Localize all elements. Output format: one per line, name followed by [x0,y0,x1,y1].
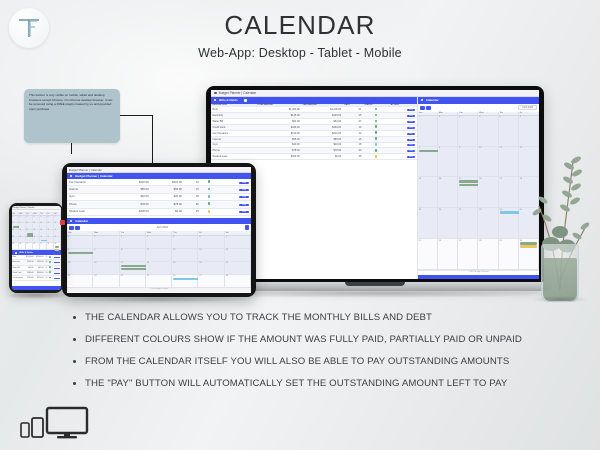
pay-button[interactable]: Pay [407,133,416,135]
table-cell: 25 [184,208,201,215]
calendar-day-cell[interactable]: 28 [54,237,61,244]
calendar-day-number: 5 [41,217,42,218]
calendar-day-cell[interactable]: 4 [146,236,172,249]
calendar-day-cell[interactable]: 4 [478,116,498,147]
phone-mockup: Budget Planner | Calendar SunMonTueWedTh… [9,203,63,293]
calendar-day-number: 12 [173,249,175,251]
table-row[interactable]: Student Loan$320.00$0.0025Pay [67,208,251,215]
bullet-item: THE "PAY" BUTTON WILL AUTOMATICALLY SET … [72,378,552,391]
calendar-day-number: 30 [20,244,22,245]
table-cell: $210.00 [151,179,184,186]
pay-button[interactable]: Pay [239,204,249,206]
calendar-day-cell[interactable]: 29 [12,243,19,250]
table-row[interactable]: Car Insurance$210.00$210.0012Pay [12,275,61,280]
table-cell: Phone [67,201,118,208]
calendar-day-cell[interactable]: 16 [19,230,26,237]
status-dot [49,261,51,263]
calendar-day-cell[interactable]: 9 [93,249,119,262]
list-icon [214,99,216,101]
calendar-day-cell[interactable]: 25 [146,275,172,288]
tablet-mockup: Budget Planner | Calendar Budget Planner… [62,163,256,297]
calendar-day-cell[interactable]: 19 [418,208,438,239]
pay-button[interactable]: Pay [407,115,416,117]
calendar-day-number: 15 [13,230,15,231]
calendar-day-cell[interactable]: 25 [33,237,40,244]
calendar-day-cell[interactable]: 35Internet - $55.00Student Loan - $0.00 [54,243,61,250]
pay-button[interactable]: Pay [239,189,249,191]
calendar-day-number: 21 [226,262,228,264]
table-row[interactable]: Internet$55.00$55.0015Pay [67,186,251,193]
phone-screen: Budget Planner | Calendar SunMonTueWedTh… [12,206,61,290]
calendar-day-cell[interactable]: 3 [120,236,146,249]
calendar-day-number: 20 [199,262,201,264]
status-dot [375,149,377,151]
calendar-day-number: 29 [13,244,15,245]
pay-button[interactable]: Pay [54,257,60,258]
calendar-day-cell[interactable]: 11 [33,223,40,230]
calendar-day-cell[interactable]: 5 [499,116,519,147]
calendar-day-cell[interactable]: 13 [47,223,54,230]
calendar-day-cell[interactable]: 16 [93,262,119,275]
calendar-day-cell[interactable]: 22 [67,275,93,288]
calendar-day-number: 4 [34,217,35,218]
calendar-day-number: 21 [55,230,57,231]
table-cell: $320.00 [255,154,301,160]
calendar-day-number: 17 [27,230,29,231]
table-cell: $78.00 [151,201,184,208]
status-dot [49,266,51,268]
pay-button[interactable]: Pay [239,196,249,198]
calendar-day-cell[interactable]: 29 [499,239,519,270]
status-badge [363,154,389,160]
calendar-day-cell[interactable]: 33 [40,243,47,250]
calendar-day-cell[interactable]: 2 [93,236,119,249]
action-cell: Pay [217,208,251,215]
tablet-app-window-title: Budget Planner | Calendar [69,168,102,172]
calendar-day-number: 4 [147,236,148,238]
calendar-day-number: 10 [27,223,29,224]
pay-button[interactable]: Pay [407,109,416,111]
status-dot [375,155,377,157]
status-badge [201,186,217,193]
action-cell: Pay [217,179,251,186]
calendar-day-cell[interactable]: 1 [12,216,19,223]
banner-callout-text: This banner is only visible on mobile, t… [29,93,115,112]
calendar-day-number: 2 [94,236,95,238]
calendar-day-cell[interactable]: 2 [438,116,458,147]
calendar-day-cell[interactable]: 11 [146,249,172,262]
calendar-day-number: 19 [419,209,421,211]
calendar-day-number: 16 [94,262,96,264]
calendar-day-number: 21 [459,209,461,211]
calendar-day-number: 11 [34,223,35,224]
pay-button[interactable]: Pay [239,182,249,184]
calendar-day-number: 25 [419,240,421,242]
table-cell: $55.00 [118,186,151,193]
calendar-day-cell[interactable]: 6 [198,236,224,249]
phone-bills-panel-title: Bills & Debts [20,252,34,254]
action-cell: Pay [52,275,60,280]
status-dot [208,188,211,191]
calendar-day-number: 26 [173,275,175,277]
calendar-day-cell[interactable]: 8 [438,147,458,178]
calendar-day-cell[interactable]: 21 [54,230,61,237]
calendar-day-cell[interactable]: 27 [47,237,54,244]
table-cell: Car Insurance [12,275,25,280]
page-title: CALENDAR [0,10,600,41]
calendar-day-number: 1 [68,236,69,238]
calendar-day-cell[interactable]: 10 [120,249,146,262]
status-dot [375,143,377,145]
calendar-day-number: 6 [199,236,200,238]
calendar-day-cell[interactable]: 22 [478,208,498,239]
calendar-day-number: 19 [173,262,175,264]
calendar-day-number: 11 [500,147,502,149]
calendar-day-number: 26 [439,240,441,242]
table-cell: $20.00 [151,193,184,200]
calendar-day-cell[interactable]: 28 [225,275,251,288]
calendar-day-number: 3 [121,236,122,238]
table-cell: 18 [184,193,201,200]
status-dot [49,277,51,279]
table-cell: Student Loan [211,154,255,160]
laptop-screen: Budget Planner | Calendar Bills & Debts … [211,90,539,279]
phone-bottom-accent-bar [12,286,61,290]
calendar-day-cell[interactable]: 13 [198,249,224,262]
table-row[interactable]: Gym$40.00$20.0018Pay [67,193,251,200]
calendar-day-cell[interactable]: 15Electricity - $145.00Credit Card - $43… [458,177,478,208]
calendar-day-number: 15 [68,262,70,264]
table-cell: $0.00 [301,154,342,160]
table-row[interactable]: Phone$78.00$78.0020Pay [67,201,251,208]
calendar-day-number: 9 [459,147,460,149]
pay-button[interactable]: Pay [407,150,416,152]
calendar-day-cell[interactable]: 23Gym - $20.00 [499,208,519,239]
calendar-day-number: 27 [199,275,201,277]
table-cell: Internet [67,186,118,193]
calendar-day-cell[interactable]: 14 [438,177,458,208]
calendar-day-number: 25 [147,275,149,277]
calendar-day-cell[interactable]: 18 [146,262,172,275]
calendar-day-number: 24 [121,275,123,277]
calendar-day-number: 2 [439,116,440,118]
calendar-day-cell[interactable]: 26Gym - $20.00 [40,237,47,244]
table-cell: $210.00 [118,179,151,186]
status-dot [375,108,377,110]
table-cell: 15 [184,186,201,193]
calendar-toolbar: April 2024 [418,104,539,112]
calendar-day-number: 18 [520,178,522,180]
calendar-day-number: 8 [68,249,69,251]
calendar-day-number: 23 [94,275,96,277]
status-dot [208,180,211,183]
calendar-day-cell[interactable]: 6 [47,216,54,223]
tablet-calendar-month-label[interactable]: April 2024 [81,226,244,229]
calendar-day-cell[interactable]: 8Rent - $1,200.00 [67,249,93,262]
calendar-day-number: 22 [479,209,481,211]
calendar-day-number: 17 [500,178,502,180]
callout-leader-vertical-2 [71,143,72,154]
status-badge [201,208,217,215]
calendar-day-number: 7 [55,217,56,218]
calendar-grid[interactable]: 1234567Rent - $1,200.0089101112131415Ele… [418,116,539,270]
calendar-day-cell[interactable]: 24 [120,275,146,288]
calendar-day-number: 3 [27,217,28,218]
calendar-day-cell[interactable]: 12 [172,249,198,262]
tablet-bills-table-body: Car Insurance$210.00$210.0012PayInternet… [67,179,251,215]
calendar-day-number: 11 [147,249,149,251]
calendar-day-cell[interactable]: 23 [93,275,119,288]
phone-alert-marker [60,220,65,225]
calendar-day-number: 27 [459,240,461,242]
calendar-day-cell[interactable]: 10 [26,223,33,230]
table-cell: $40.00 [118,193,151,200]
calendar-day-cell[interactable]: 21 [225,262,251,275]
table-row[interactable]: Student Loan$320.00$0.0025Pay [211,154,417,160]
pay-button[interactable]: Pay [54,262,60,263]
calendar-day-number: 13 [419,178,421,180]
calendar-day-cell[interactable]: 20 [47,230,54,237]
calendar-icon [421,99,423,101]
app-window-icon [214,92,217,95]
calendar-next-button[interactable] [426,106,431,110]
phone-app-window-title: Budget Planner | Calendar [14,207,35,209]
pay-button[interactable]: Pay [54,268,60,269]
status-badge [201,201,217,208]
calendar-day-cell[interactable]: 3 [26,216,33,223]
calendar-day-number: 14 [226,249,228,251]
tablet-calendar-panel-title: Calendar [75,219,88,223]
calendar-day-cell[interactable]: 17Electricity - $145.00Credit Card - $43… [26,230,33,237]
phone-bezel: Budget Planner | Calendar SunMonTueWedTh… [9,203,63,293]
pay-button[interactable]: Pay [407,144,416,146]
app-bottom-accent-bar [418,275,539,279]
calendar-panel-title: Calendar [426,98,439,102]
calendar-day-number: 2 [20,217,21,218]
pay-button[interactable]: Pay [239,211,249,213]
status-badge [201,193,217,200]
calendar-day-number: 13 [199,249,201,251]
calendar-day-number: 10 [121,249,123,251]
phone-calendar-grid[interactable]: 12345678Rent - $1,200.009101112131415161… [12,216,61,250]
bullet-item: THE CALENDAR ALLOWS YOU TO TRACK THE MON… [72,312,552,325]
feature-bullet-list: THE CALENDAR ALLOWS YOU TO TRACK THE MON… [72,312,552,399]
tablet-screen: Budget Planner | Calendar Budget Planner… [67,167,251,293]
calendar-day-number: 10 [479,147,481,149]
app-window-title: Budget Planner | Calendar [219,91,257,95]
calendar-day-number: 8 [13,223,14,224]
calendar-day-cell[interactable]: 9 [458,147,478,178]
status-dot [49,271,51,273]
vase-foliage [543,258,577,301]
calendar-day-cell[interactable]: 20 [438,208,458,239]
calendar-day-cell[interactable]: 1 [418,116,438,147]
calendar-day-cell[interactable]: 8Rent - $1,200.00 [12,223,19,230]
status-badge [201,179,217,186]
calendar-day-cell[interactable]: 3 [458,116,478,147]
calendar-day-number: 19 [41,230,43,231]
status-dot [375,125,377,127]
pay-button[interactable]: Pay [54,273,60,274]
calendar-day-number: 4 [479,116,480,118]
calendar-day-number: 12 [41,223,43,224]
calendar-day-cell[interactable]: 18 [33,230,40,237]
calendar-day-cell[interactable]: 1 [67,236,93,249]
calendar-day-cell[interactable]: 15 [12,230,19,237]
calendar-day-cell[interactable]: 22 [12,237,19,244]
calendar-day-cell[interactable]: 32 [33,243,40,250]
calendar-day-number: 16 [20,230,22,231]
calendar-view-button[interactable] [245,225,250,230]
action-cell: Pay [217,201,251,208]
calendar-day-number: 6 [48,217,49,218]
calendar-day-cell[interactable]: 12 [40,223,47,230]
action-cell: Pay [389,154,417,160]
tablet-bills-panel-title: Budget Planner | Calendar [75,174,113,178]
calendar-day-number: 5 [500,116,501,118]
calendar-next-button[interactable] [75,226,80,230]
banner-callout: This banner is only visible on mobile, t… [24,89,120,143]
table-cell: 20 [184,201,201,208]
calendar-day-number: 3 [459,116,460,118]
responsive-devices-icon [20,406,100,440]
status-dot [375,120,377,122]
pay-button[interactable]: Pay [407,156,416,158]
table-cell: 25 [343,154,363,160]
action-cell: Pay [217,193,251,200]
calendar-prev-button[interactable] [420,106,425,110]
calendar-day-number: 25 [34,237,36,238]
plant-shadow [531,296,589,303]
calendar-day-cell[interactable]: 25 [418,239,438,270]
callout-leader-horizontal [120,115,153,116]
calendar-day-number: 17 [121,262,123,264]
pay-button[interactable]: Pay [407,121,416,123]
calendar-day-cell[interactable]: 7 [225,236,251,249]
calendar-month-label[interactable]: April 2024 [518,105,537,110]
calendar-event-bar[interactable]: Internet - $55.00 [55,246,59,248]
status-dot [375,137,377,139]
calendar-day-cell[interactable]: 34 [47,243,54,250]
calendar-day-cell[interactable]: 13 [418,177,438,208]
pay-button[interactable]: Pay [54,278,60,279]
calendar-day-cell[interactable]: 26Gym - $20.00 [172,275,198,288]
status-dot [208,202,211,205]
table-cell: $0.00 [151,208,184,215]
calendar-day-cell[interactable]: 20 [198,262,224,275]
calendar-day-number: 35 [55,244,57,245]
calendar-icon [70,220,72,222]
calendar-prev-button[interactable] [69,226,74,230]
calendar-day-cell[interactable]: 5 [172,236,198,249]
calendar-day-cell[interactable]: 11 [499,147,519,178]
calendar-day-number: 7 [419,147,420,149]
phone-shadow [5,292,67,299]
calendar-day-number: 24 [520,209,522,211]
table-row[interactable]: Car Insurance$210.00$210.0012Pay [67,179,251,186]
calendar-day-cell[interactable]: 4 [33,216,40,223]
calendar-day-cell[interactable]: 5 [40,216,47,223]
calendar-day-cell[interactable]: 27 [198,275,224,288]
calendar-day-cell[interactable]: 23 [19,237,26,244]
calendar-day-cell[interactable]: 19 [40,230,47,237]
calendar-day-number: 1 [419,116,420,118]
calendar-day-number: 7 [226,236,227,238]
table-cell: $55.00 [151,186,184,193]
calendar-day-number: 5 [173,236,174,238]
calendar-day-cell[interactable]: 2 [19,216,26,223]
calendar-day-cell[interactable]: 10 [478,147,498,178]
calendar-day-number: 32 [34,244,36,245]
calendar-day-number: 22 [13,237,15,238]
calendar-day-number: 29 [500,240,502,242]
table-cell: Car Insurance [67,179,118,186]
phone-bills-table: Rent$1,200.00$1,200.0001PayElectricity$1… [12,255,61,281]
calendar-day-number: 27 [48,237,50,238]
devices-glyph [20,406,100,440]
calendar-day-cell[interactable]: 14 [225,249,251,262]
pay-button[interactable]: Pay [407,139,416,141]
calendar-day-cell[interactable]: 30 [19,243,26,250]
calendar-day-number: 28 [55,237,57,238]
calendar-day-cell[interactable]: 9 [19,223,26,230]
tablet-bills-table: Car Insurance$210.00$210.0012PayInternet… [67,179,251,216]
calendar-day-cell[interactable]: 21 [458,208,478,239]
phone-bills-table-body: Rent$1,200.00$1,200.0001PayElectricity$1… [12,255,61,280]
bills-table-body: Rent$1,200.00$1,200.0001PayElectricity$1… [211,107,417,160]
calendar-day-number: 18 [34,230,36,231]
calendar-day-cell[interactable]: 16 [478,177,498,208]
tablet-bezel: Budget Planner | Calendar Budget Planner… [62,163,256,297]
calendar-day-cell[interactable]: 19 [172,262,198,275]
calendar-day-number: 24 [27,237,29,238]
calendar-day-number: 14 [439,178,441,180]
table-cell: $78.00 [118,201,151,208]
calendar-day-number: 23 [20,237,22,238]
calendar-day-cell[interactable]: 28 [478,239,498,270]
calendar-day-number: 9 [20,223,21,224]
calendar-day-number: 8 [439,147,440,149]
callout-leader-vertical [152,115,153,169]
calendar-day-cell[interactable]: 24 [26,237,33,244]
calendar-day-number: 9 [94,249,95,251]
action-cell: Pay [217,186,251,193]
decorative-plant [527,140,593,305]
bills-panel-title: Bills & Debts [219,98,238,102]
table-cell: $210.00 [35,275,45,280]
calendar-day-number: 22 [68,275,70,277]
status-dot [208,195,211,198]
calendar-day-number: 1 [13,217,14,218]
calendar-day-number: 20 [439,209,441,211]
calendar-day-number: 34 [48,244,50,245]
calendar-event-bar[interactable]: Student Loan - $0.00 [55,249,59,251]
calendar-day-number: 28 [226,275,228,277]
calendar-day-cell[interactable]: 7Rent - $1,200.00 [418,147,438,178]
calendar-day-cell[interactable]: 17 [499,177,519,208]
calendar-day-cell[interactable]: 26 [438,239,458,270]
calendar-day-cell[interactable]: 31 [26,243,33,250]
calendar-day-cell[interactable]: 15 [67,262,93,275]
bullet-item: DIFFERENT COLOURS SHOW IF THE AMOUNT WAS… [72,334,552,347]
add-bill-button[interactable] [244,99,247,102]
calendar-day-cell[interactable]: 17Electricity - $145.00Credit Card - $43… [120,262,146,275]
calendar-day-number: 14 [55,223,57,224]
pay-button[interactable]: Pay [407,127,416,129]
calendar-day-cell[interactable]: 27 [458,239,478,270]
tablet-calendar-grid[interactable]: 12345678Rent - $1,200.009101112131415161… [67,236,251,288]
calendar-day-number: 31 [27,244,29,245]
